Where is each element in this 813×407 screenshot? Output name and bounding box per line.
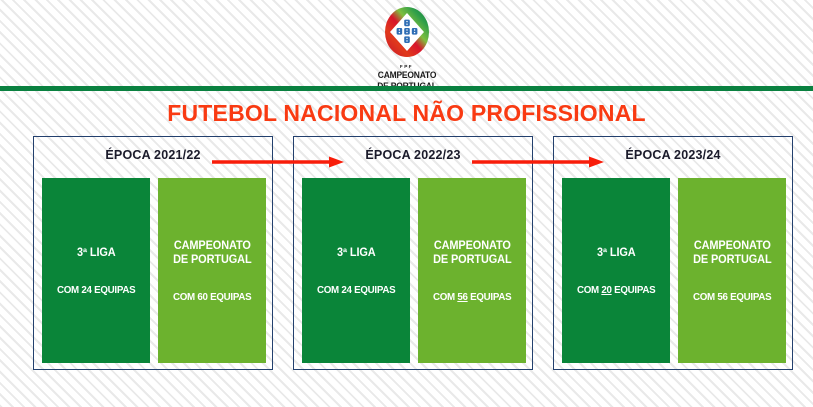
competition-boxes: 3ª LIGA COM 24 EQUIPAS CAMPEONATO DE POR… [302, 178, 526, 363]
season-title: ÉPOCA 2022/23 [294, 148, 532, 162]
fpf-campeonato-de-portugal-logo-icon [381, 6, 433, 64]
team-count-value: 56 [457, 291, 467, 303]
competition-box-campeonato-de-portugal[interactable]: CAMPEONATO DE PORTUGAL COM 56 EQUIPAS [678, 178, 786, 363]
team-count-value: 60 [197, 291, 207, 303]
team-count-value: 56 [717, 291, 727, 303]
competition-name: 3ª LIGA [77, 246, 116, 260]
brand-logo: FPF CAMPEONATO DE PORTUGAL [364, 6, 450, 91]
slide-canvas: FPF CAMPEONATO DE PORTUGAL FUTEBOL NACIO… [0, 0, 813, 407]
competition-boxes: 3ª LIGA COM 24 EQUIPAS CAMPEONATO DE POR… [42, 178, 266, 363]
competition-name: CAMPEONATO DE PORTUGAL [173, 239, 251, 267]
season-panel-2021-22: ÉPOCA 2021/22 3ª LIGA COM 24 EQUIPAS CAM… [33, 136, 273, 370]
competition-team-count: COM 24 EQUIPAS [57, 284, 135, 296]
season-title: ÉPOCA 2023/24 [554, 148, 792, 162]
competition-box-3a-liga[interactable]: 3ª LIGA COM 20 EQUIPAS [562, 178, 670, 363]
competition-box-campeonato-de-portugal[interactable]: CAMPEONATO DE PORTUGAL COM 60 EQUIPAS [158, 178, 266, 363]
competition-box-3a-liga[interactable]: 3ª LIGA COM 24 EQUIPAS [42, 178, 150, 363]
season-panel-2022-23: ÉPOCA 2022/23 3ª LIGA COM 24 EQUIPAS CAM… [293, 136, 533, 370]
team-count-value: 24 [341, 284, 351, 296]
competition-team-count: COM 24 EQUIPAS [317, 284, 395, 296]
competition-team-count: COM 60 EQUIPAS [173, 291, 251, 303]
logo-band: FPF CAMPEONATO DE PORTUGAL [0, 0, 813, 88]
competition-boxes: 3ª LIGA COM 20 EQUIPAS CAMPEONATO DE POR… [562, 178, 786, 363]
competition-name: CAMPEONATO DE PORTUGAL [693, 239, 771, 267]
logo-wordmark-line1: CAMPEONATO [366, 70, 447, 81]
team-count-value: 24 [81, 284, 91, 296]
season-title: ÉPOCA 2021/22 [34, 148, 272, 162]
competition-name: 3ª LIGA [337, 246, 376, 260]
competition-team-count: COM 20 EQUIPAS [577, 284, 655, 296]
season-panel-2023-24: ÉPOCA 2023/24 3ª LIGA COM 20 EQUIPAS CAM… [553, 136, 793, 370]
competition-box-campeonato-de-portugal[interactable]: CAMPEONATO DE PORTUGAL COM 56 EQUIPAS [418, 178, 526, 363]
green-divider-rule [0, 86, 813, 91]
team-count-value: 20 [601, 284, 611, 296]
competition-name: 3ª LIGA [597, 246, 636, 260]
page-title: FUTEBOL NACIONAL NÃO PROFISSIONAL [0, 100, 813, 127]
competition-name: CAMPEONATO DE PORTUGAL [433, 239, 511, 267]
competition-box-3a-liga[interactable]: 3ª LIGA COM 24 EQUIPAS [302, 178, 410, 363]
competition-team-count: COM 56 EQUIPAS [693, 291, 771, 303]
competition-team-count: COM 56 EQUIPAS [433, 291, 511, 303]
